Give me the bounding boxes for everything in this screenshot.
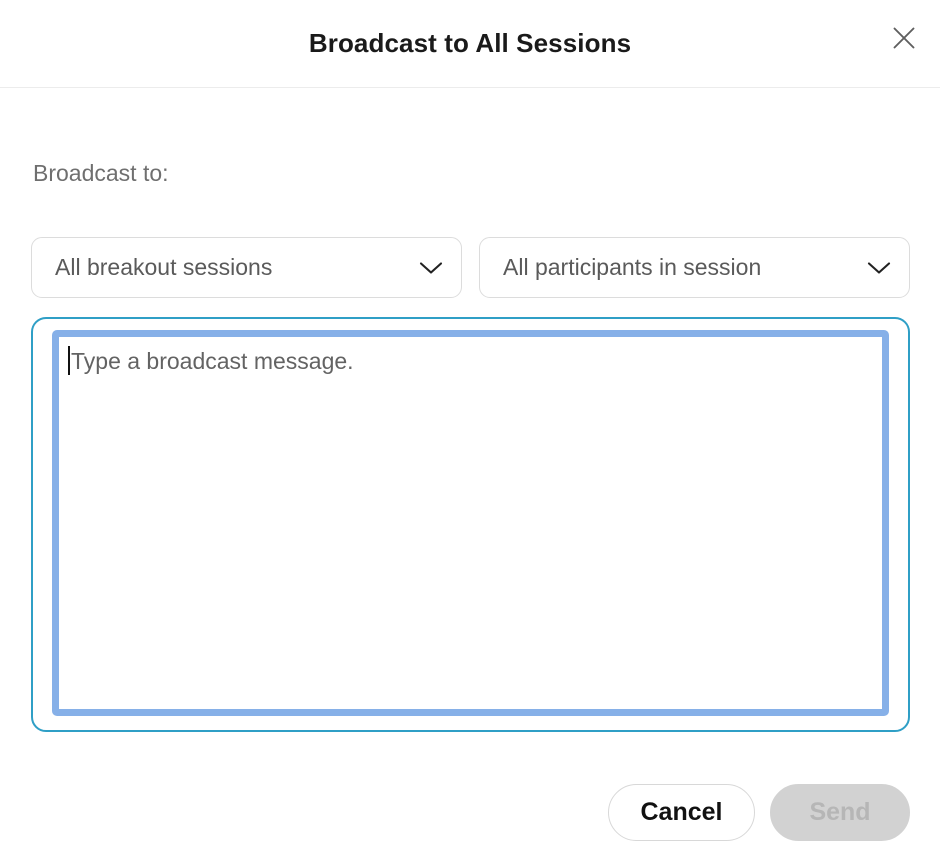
broadcast-dialog: Broadcast to All Sessions Broadcast to: … xyxy=(0,0,940,858)
broadcast-message-field[interactable]: Type a broadcast message. xyxy=(31,317,910,732)
focus-ring: Type a broadcast message. xyxy=(52,330,889,716)
dialog-footer: Cancel Send xyxy=(0,784,940,842)
dialog-header: Broadcast to All Sessions xyxy=(0,0,940,88)
session-scope-value: All breakout sessions xyxy=(55,238,272,297)
dialog-title: Broadcast to All Sessions xyxy=(0,0,940,87)
scope-select-row: All breakout sessions All participants i… xyxy=(31,237,910,298)
close-icon xyxy=(891,25,917,51)
send-button: Send xyxy=(770,784,910,841)
broadcast-message-input[interactable]: Type a broadcast message. xyxy=(59,337,882,709)
session-scope-select[interactable]: All breakout sessions xyxy=(31,237,462,298)
broadcast-message-placeholder: Type a broadcast message. xyxy=(71,346,354,376)
chevron-down-icon xyxy=(418,238,444,297)
broadcast-to-label: Broadcast to: xyxy=(33,160,169,187)
text-caret xyxy=(68,346,70,375)
chevron-down-icon xyxy=(866,238,892,297)
participant-scope-value: All participants in session xyxy=(503,238,761,297)
participant-scope-select[interactable]: All participants in session xyxy=(479,237,910,298)
placeholder-row: Type a broadcast message. xyxy=(68,346,354,378)
close-button[interactable] xyxy=(882,16,926,60)
cancel-button[interactable]: Cancel xyxy=(608,784,755,841)
